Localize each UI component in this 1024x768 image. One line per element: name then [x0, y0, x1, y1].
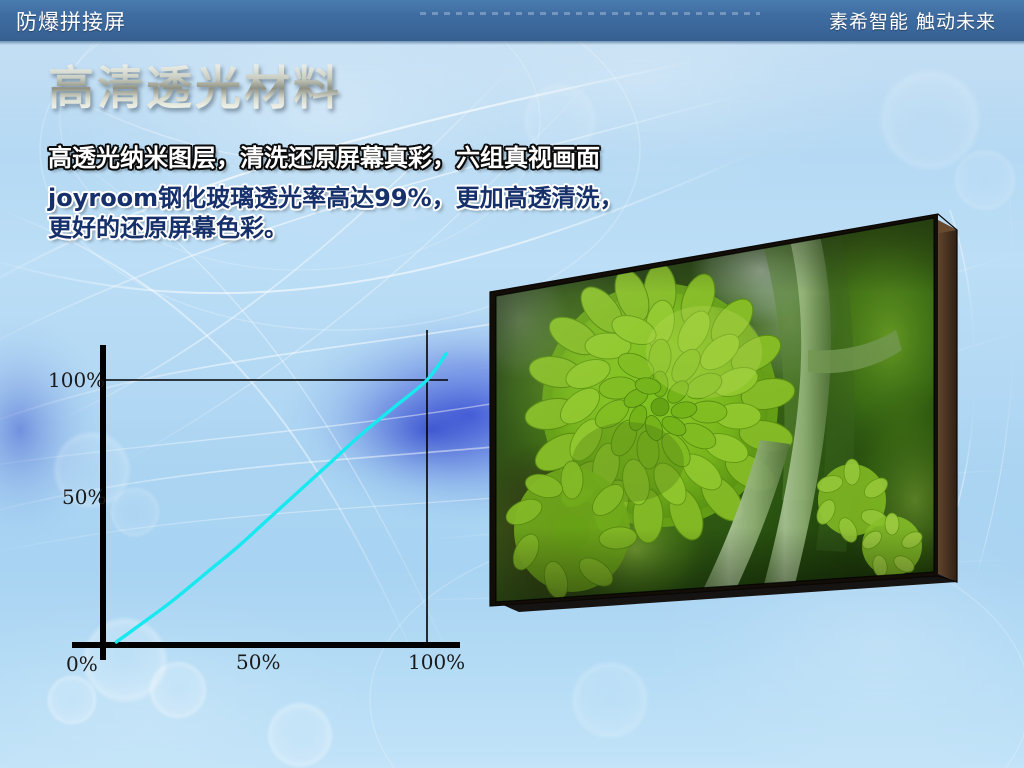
header-product-title: 防爆拼接屏 [16, 6, 126, 36]
slide-root: 防爆拼接屏 素希智能 触动未来 高清透光材料 高透光纳米图层，清洗还原屏幕真彩，… [0, 0, 1024, 768]
chart-y-tick-50: 50% [62, 485, 106, 509]
panel-screen-image [460, 200, 995, 620]
chart-x-tick-100: 100% [408, 650, 465, 674]
chart-y-tick-100: 100% [48, 368, 105, 392]
chart-x-tick-50: 50% [236, 650, 280, 674]
chart-series-transmittance [116, 354, 446, 642]
video-wall-panel [460, 200, 1024, 670]
chart-x-tick-0: 0% [66, 652, 98, 676]
header-dotted-rule [420, 12, 760, 15]
header-brand-tagline: 素希智能 触动未来 [829, 7, 996, 34]
header-bar: 防爆拼接屏 素希智能 触动未来 [0, 0, 1024, 41]
